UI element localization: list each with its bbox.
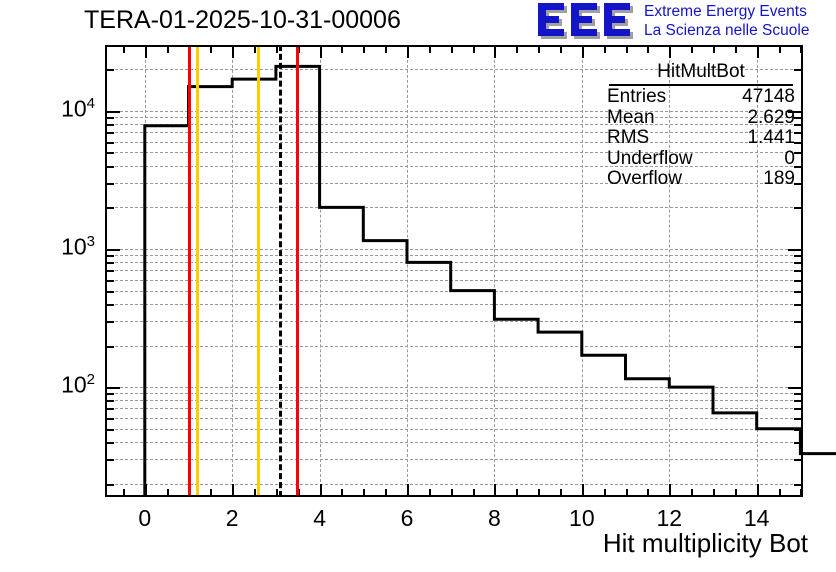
y-tick-label: 103: [10, 233, 95, 261]
x-tick-label: 8: [454, 505, 534, 532]
eee-letter-icon: [604, 3, 631, 37]
x-tick-label: 12: [629, 505, 709, 532]
stats-row: RMS1.441: [601, 128, 801, 149]
stats-key: RMS: [607, 128, 649, 149]
eee-logo-line2: La Scienza nelle Scuole: [644, 21, 809, 40]
eee-logo-mark: [538, 3, 638, 39]
y-tick-label: 104: [10, 95, 95, 123]
stats-value: 47148: [742, 87, 795, 108]
stats-row: Mean2.629: [601, 108, 801, 129]
stats-key: Underflow: [607, 149, 693, 170]
x-axis-title: Hit multiplicity Bot: [603, 528, 808, 559]
x-tick-label: 0: [105, 505, 185, 532]
eee-logo-line1: Extreme Energy Events: [644, 2, 809, 21]
stats-value: 2.629: [747, 108, 795, 129]
stats-value: 0: [784, 149, 795, 170]
stats-key: Mean: [607, 108, 655, 129]
eee-letter-icon: [538, 3, 565, 37]
x-tick-label: 14: [717, 505, 797, 532]
eee-logo-text: Extreme Energy Events La Scienza nelle S…: [644, 2, 809, 40]
stats-key: Entries: [607, 87, 666, 108]
page-title: TERA-01-2025-10-31-00006: [84, 6, 401, 35]
stats-box: HitMultBot Entries47148Mean2.629RMS1.441…: [601, 61, 801, 186]
stats-key: Overflow: [607, 169, 682, 190]
eee-logo: Extreme Energy Events La Scienza nelle S…: [538, 2, 834, 42]
stats-value: 189: [763, 169, 795, 190]
x-tick-label: 2: [192, 505, 272, 532]
stats-title: HitMultBot: [609, 61, 793, 86]
stats-rows: Entries47148Mean2.629RMS1.441Underflow0O…: [601, 87, 801, 190]
eee-letter-icon: [571, 3, 598, 37]
x-tick-label: 4: [280, 505, 360, 532]
y-tick-label: 102: [10, 371, 95, 399]
stats-value: 1.441: [747, 128, 795, 149]
stats-row: Entries47148: [601, 87, 801, 108]
x-tick-label: 10: [542, 505, 622, 532]
x-tick-label: 6: [367, 505, 447, 532]
stats-row: Overflow189: [601, 169, 801, 190]
stats-row: Underflow0: [601, 149, 801, 170]
root-canvas: TERA-01-2025-10-31-00006 Extreme Energy …: [0, 0, 836, 572]
